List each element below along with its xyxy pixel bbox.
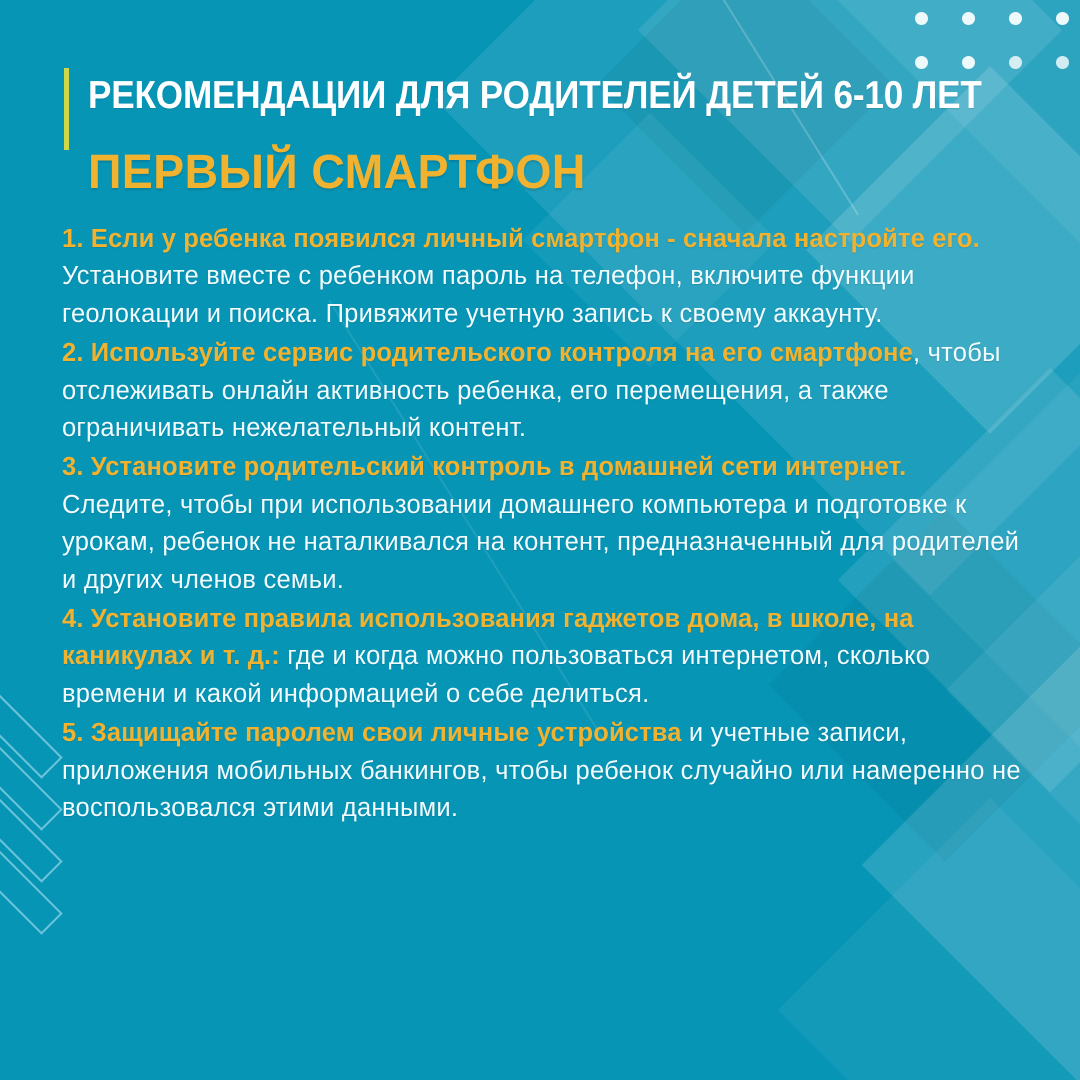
list-item: 1. Если у ребенка появился личный смартф… — [62, 221, 1024, 333]
page-title: РЕКОМЕНДАЦИИ ДЛЯ РОДИТЕЛЕЙ ДЕТЕЙ 6-10 ЛЕ… — [88, 74, 953, 118]
page-subtitle: ПЕРВЫЙ СМАРТФОН — [88, 148, 586, 198]
list-item: 2. Используйте сервис родительского конт… — [62, 335, 1024, 447]
recommendation-list: 1. Если у ребенка появился личный смартф… — [62, 221, 1024, 830]
list-item-lead-1: 1. Если у ребенка появился личный смартф… — [62, 225, 980, 253]
list-item-lead-2: 2. Используйте сервис родительского конт… — [62, 339, 913, 367]
list-item: 4. Установите правила использования гадж… — [62, 601, 1024, 713]
list-item-lead-5: 5. Защищайте паролем свои личные устройс… — [62, 719, 682, 747]
list-item-rest-3: Следите, чтобы при использовании домашне… — [62, 491, 1019, 594]
list-item: 3. Установите родительский контроль в до… — [62, 449, 1024, 599]
list-item: 5. Защищайте паролем свои личные устройс… — [62, 715, 1024, 827]
list-item-rest-1: Установите вместе с ребенком пароль на т… — [62, 262, 915, 327]
list-item-lead-3: 3. Установите родительский контроль в до… — [62, 453, 906, 481]
accent-bar — [64, 68, 69, 150]
poster-content: РЕКОМЕНДАЦИИ ДЛЯ РОДИТЕЛЕЙ ДЕТЕЙ 6-10 ЛЕ… — [0, 0, 1080, 1080]
poster-root: РЕКОМЕНДАЦИИ ДЛЯ РОДИТЕЛЕЙ ДЕТЕЙ 6-10 ЛЕ… — [0, 0, 1080, 1080]
